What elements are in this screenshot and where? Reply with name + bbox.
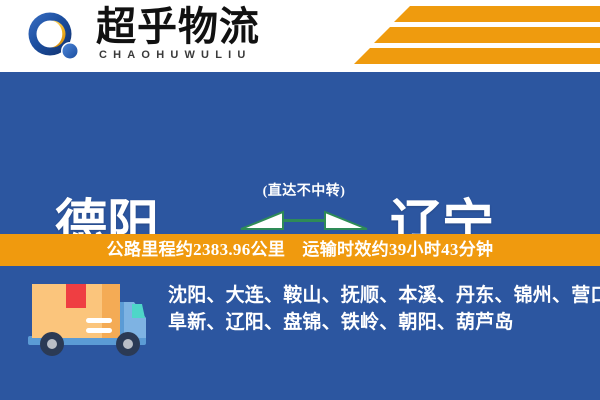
distance-duration-text: 公路里程约2383.96公里 运输时效约39小时43分钟 xyxy=(107,240,494,260)
orange-stripes-icon xyxy=(340,6,600,68)
coverage-city-line: 沈阳、大连、鞍山、抚顺、本溪、丹东、锦州、营口、 xyxy=(168,282,586,309)
header-stripes-decoration xyxy=(340,6,600,68)
route-section: 德阳 (直达不中转) 【往返运输】 辽宁 xyxy=(0,72,600,234)
circle-crescent-logo-icon xyxy=(26,11,82,63)
truck-illustration xyxy=(24,278,150,360)
banner-header: 超乎物流 CHAOHUWULIU xyxy=(0,0,600,72)
direct-route-note: (直达不中转) xyxy=(238,184,370,200)
delivery-truck-icon xyxy=(24,278,150,360)
distance-duration-bar: 公路里程约2383.96公里 运输时效约39小时43分钟 xyxy=(0,234,600,266)
coverage-city-line: 阜新、辽阳、盘锦、铁岭、朝阳、葫芦岛 xyxy=(168,309,586,336)
coverage-city-list: 沈阳、大连、鞍山、抚顺、本溪、丹东、锦州、营口、 阜新、辽阳、盘锦、铁岭、朝阳、… xyxy=(168,282,586,336)
company-logo xyxy=(26,11,82,63)
brand-name-en: CHAOHUWULIU xyxy=(99,49,252,61)
logistics-route-banner: 超乎物流 CHAOHUWULIU 德阳 (直达不中转) 【往返运输】 辽宁 xyxy=(0,0,600,400)
brand-name-cn: 超乎物流 xyxy=(96,6,260,48)
coverage-section: 沈阳、大连、鞍山、抚顺、本溪、丹东、锦州、营口、 阜新、辽阳、盘锦、铁岭、朝阳、… xyxy=(0,266,600,400)
bidirectional-arrow-icon xyxy=(239,203,369,237)
